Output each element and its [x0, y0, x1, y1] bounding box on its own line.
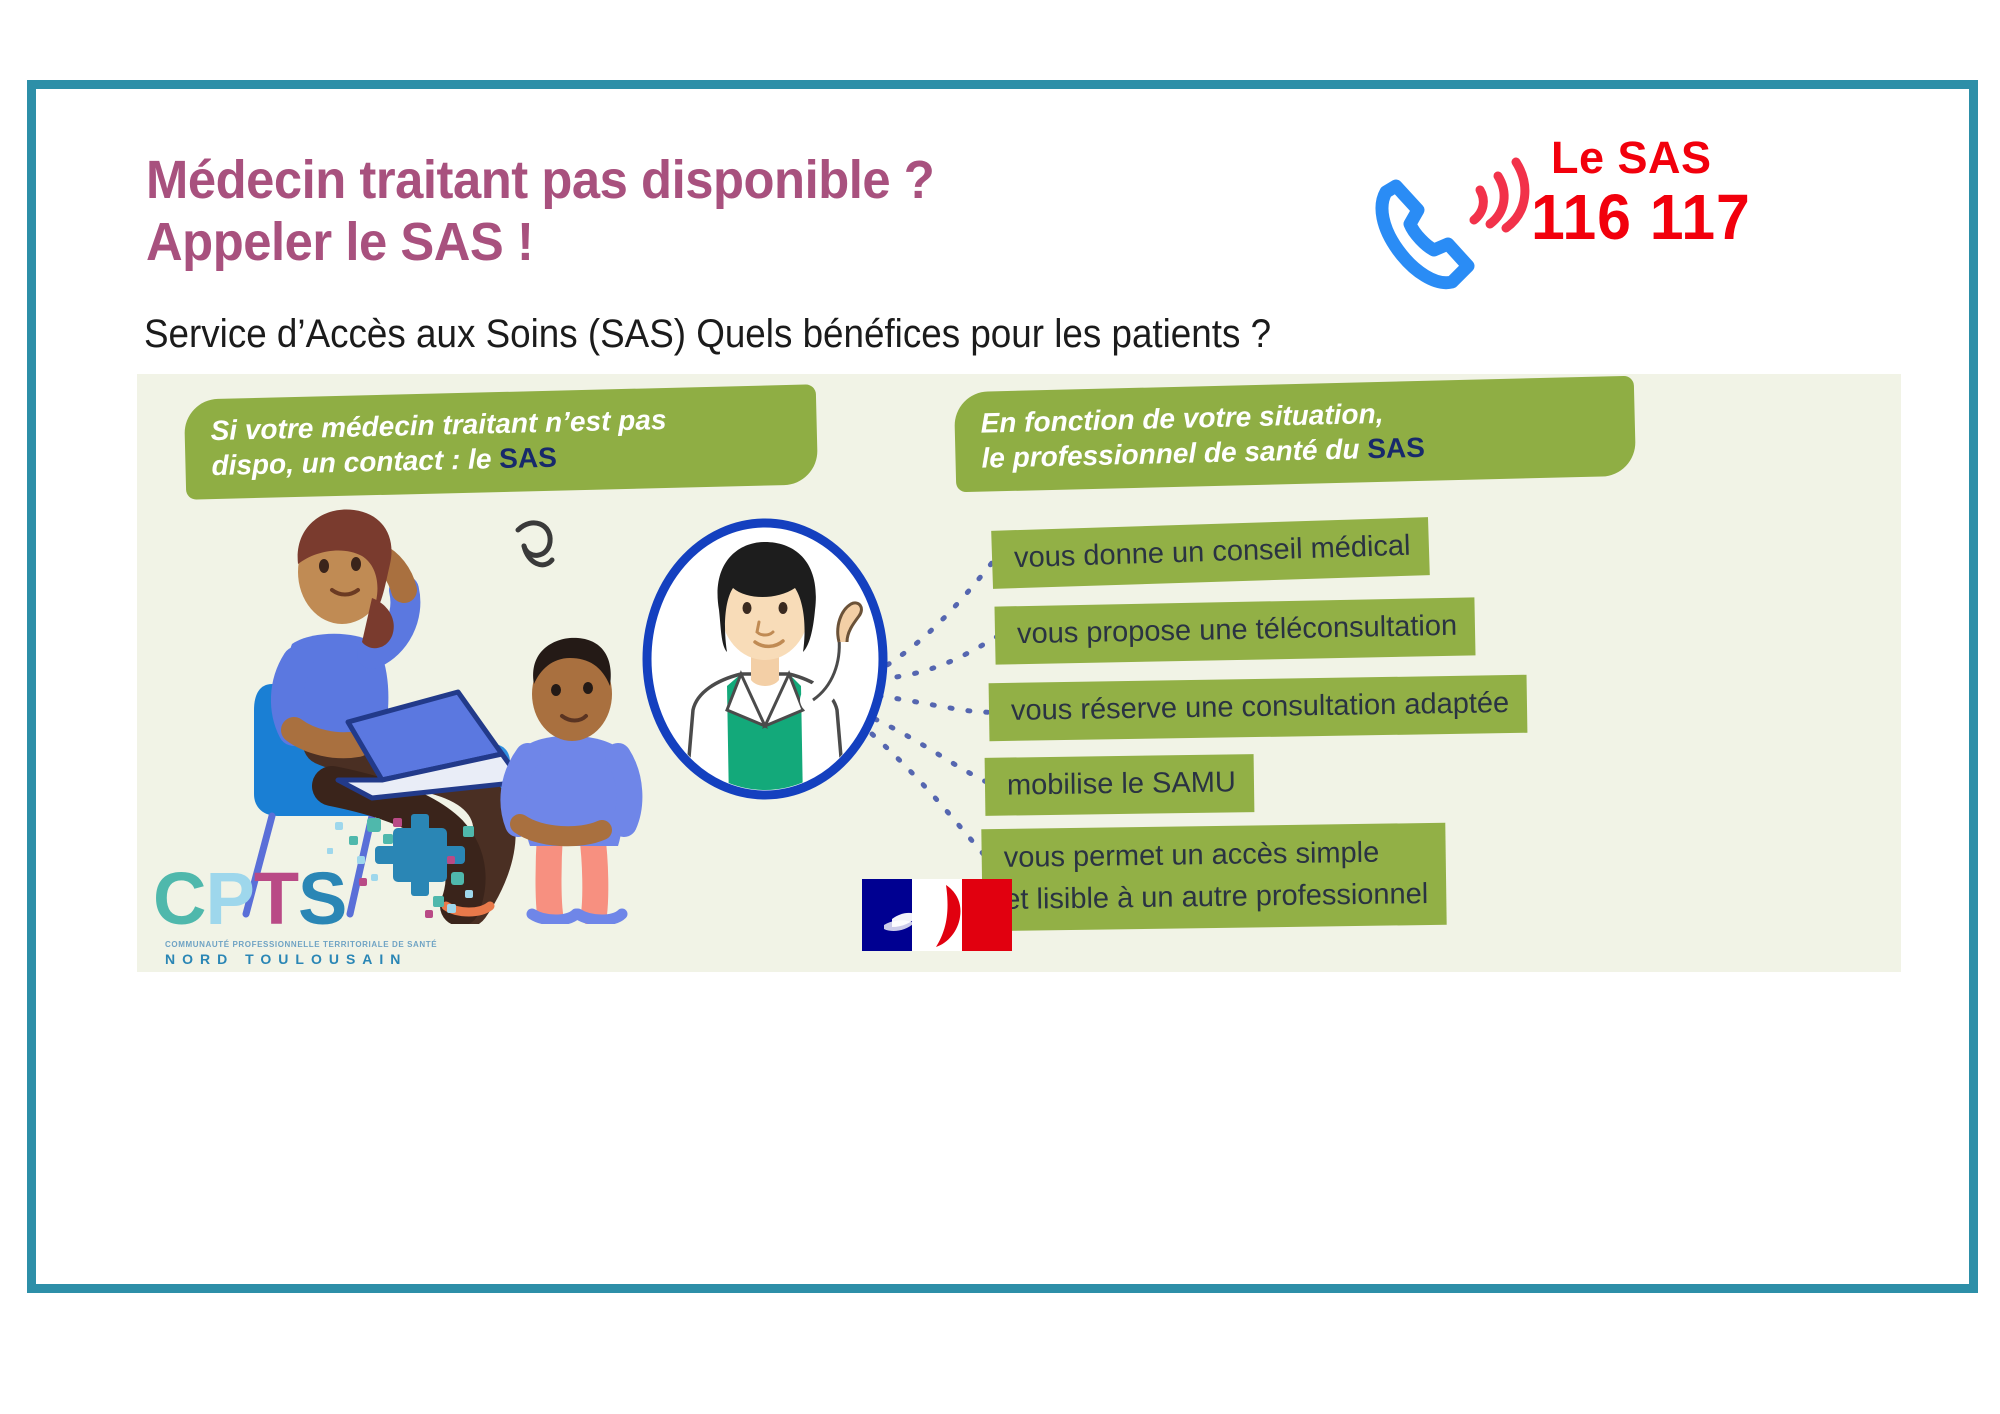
- benefit-item-line1: vous permet un accès simple: [1003, 837, 1379, 874]
- right-banner-sas: SAS: [1367, 432, 1425, 464]
- benefit-item: vous propose une téléconsultation: [994, 597, 1475, 664]
- cpts-tagline-main: NORD TOULOUSAIN: [165, 951, 407, 967]
- benefit-item: vous donne un conseil médical: [991, 517, 1429, 589]
- right-banner: En fonction de votre situation, le profe…: [954, 376, 1636, 493]
- sas-label: Le SAS: [1551, 134, 1712, 182]
- left-banner-line2-pre: dispo, un contact : le: [211, 443, 499, 481]
- benefit-item: vous réserve une consultation adaptée: [989, 675, 1528, 741]
- doctor-in-circle-illustration: [637, 514, 902, 804]
- headline-line-1: Médecin traitant pas disponible ?: [146, 149, 1255, 211]
- sas-phone-block: Le SAS 116 117: [1356, 124, 1916, 314]
- cpts-letter-p: P: [205, 862, 253, 936]
- cpts-letter-s: S: [298, 862, 346, 936]
- left-banner: Si votre médecin traitant n’est pas disp…: [184, 384, 818, 499]
- cpts-letter-t: T: [254, 862, 298, 936]
- cpts-wordmark: CPTS: [153, 862, 346, 936]
- cpts-logo: CPTS COMMUNAUTÉ PROFESSIONNELLE TERRITOR…: [147, 812, 477, 972]
- page-title: Médecin traitant pas disponible ? Appele…: [146, 149, 1326, 273]
- french-republic-marianne-logo: [862, 879, 1012, 951]
- subtitle: Service d’Accès aux Soins (SAS) Quels bé…: [144, 311, 1271, 357]
- left-banner-line1: Si votre médecin traitant n’est pas: [210, 404, 667, 446]
- cpts-tagline-small: COMMUNAUTÉ PROFESSIONNELLE TERRITORIALE …: [165, 940, 437, 949]
- benefit-item: mobilise le SAMU: [985, 754, 1255, 816]
- cpts-letter-c: C: [153, 862, 205, 936]
- left-banner-sas: SAS: [499, 442, 557, 474]
- benefit-item-line2: et lisible à un autre professionnel: [1004, 878, 1428, 916]
- headline-line-2: Appeler le SAS !: [146, 211, 1255, 273]
- sas-phone-number: 116 117: [1531, 182, 1751, 252]
- poster-frame: Médecin traitant pas disponible ? Appele…: [27, 80, 1978, 1293]
- benefit-item: vous permet un accès simple et lisible à…: [981, 823, 1446, 931]
- infographic-panel: Si votre médecin traitant n’est pas disp…: [137, 374, 1901, 972]
- phone-ringing-icon: [1356, 154, 1546, 304]
- right-banner-line2-pre: le professionnel de santé du: [981, 433, 1368, 473]
- right-banner-line1: En fonction de votre situation,: [980, 398, 1384, 439]
